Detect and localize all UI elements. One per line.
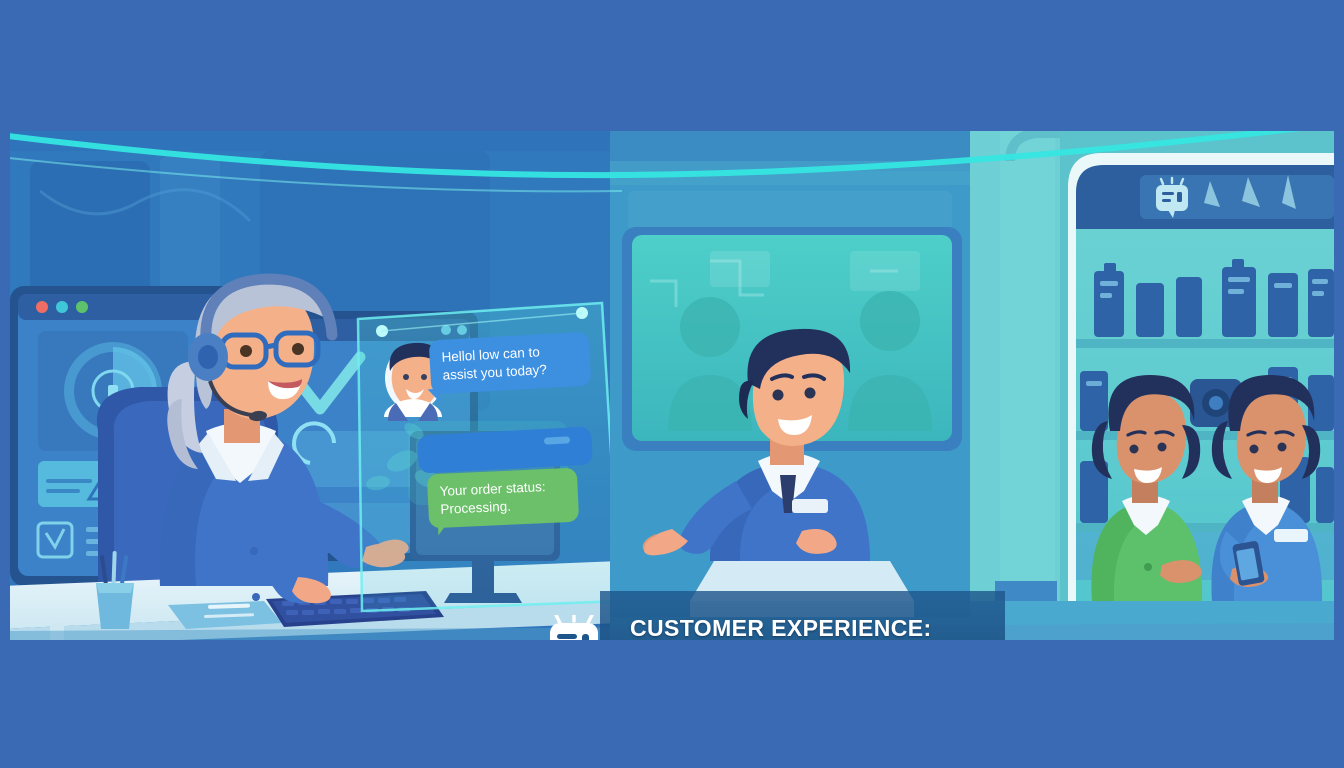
chat-message-1: Hellol low can to assist you today? — [429, 332, 592, 395]
chat-message-3-text: Your order status: Processing. — [439, 479, 546, 517]
illustration-panel: Hellol low can to assist you today? Your… — [10, 131, 1334, 640]
headline-line-1: CUSTOMER EXPERIENCE: — [630, 614, 990, 640]
chat-message-3: Your order status: Processing. — [427, 468, 579, 529]
headline-text: CUSTOMER EXPERIENCE: THE FUTURE IS CONNE… — [630, 614, 990, 640]
chatbot-icon — [546, 615, 602, 640]
chat-message-1-text: Hellol low can to assist you today? — [441, 344, 547, 382]
scene-root: Hellol low can to assist you today? Your… — [0, 0, 1344, 768]
chat-message-2 — [417, 426, 593, 473]
scene-illustration — [10, 131, 1334, 640]
